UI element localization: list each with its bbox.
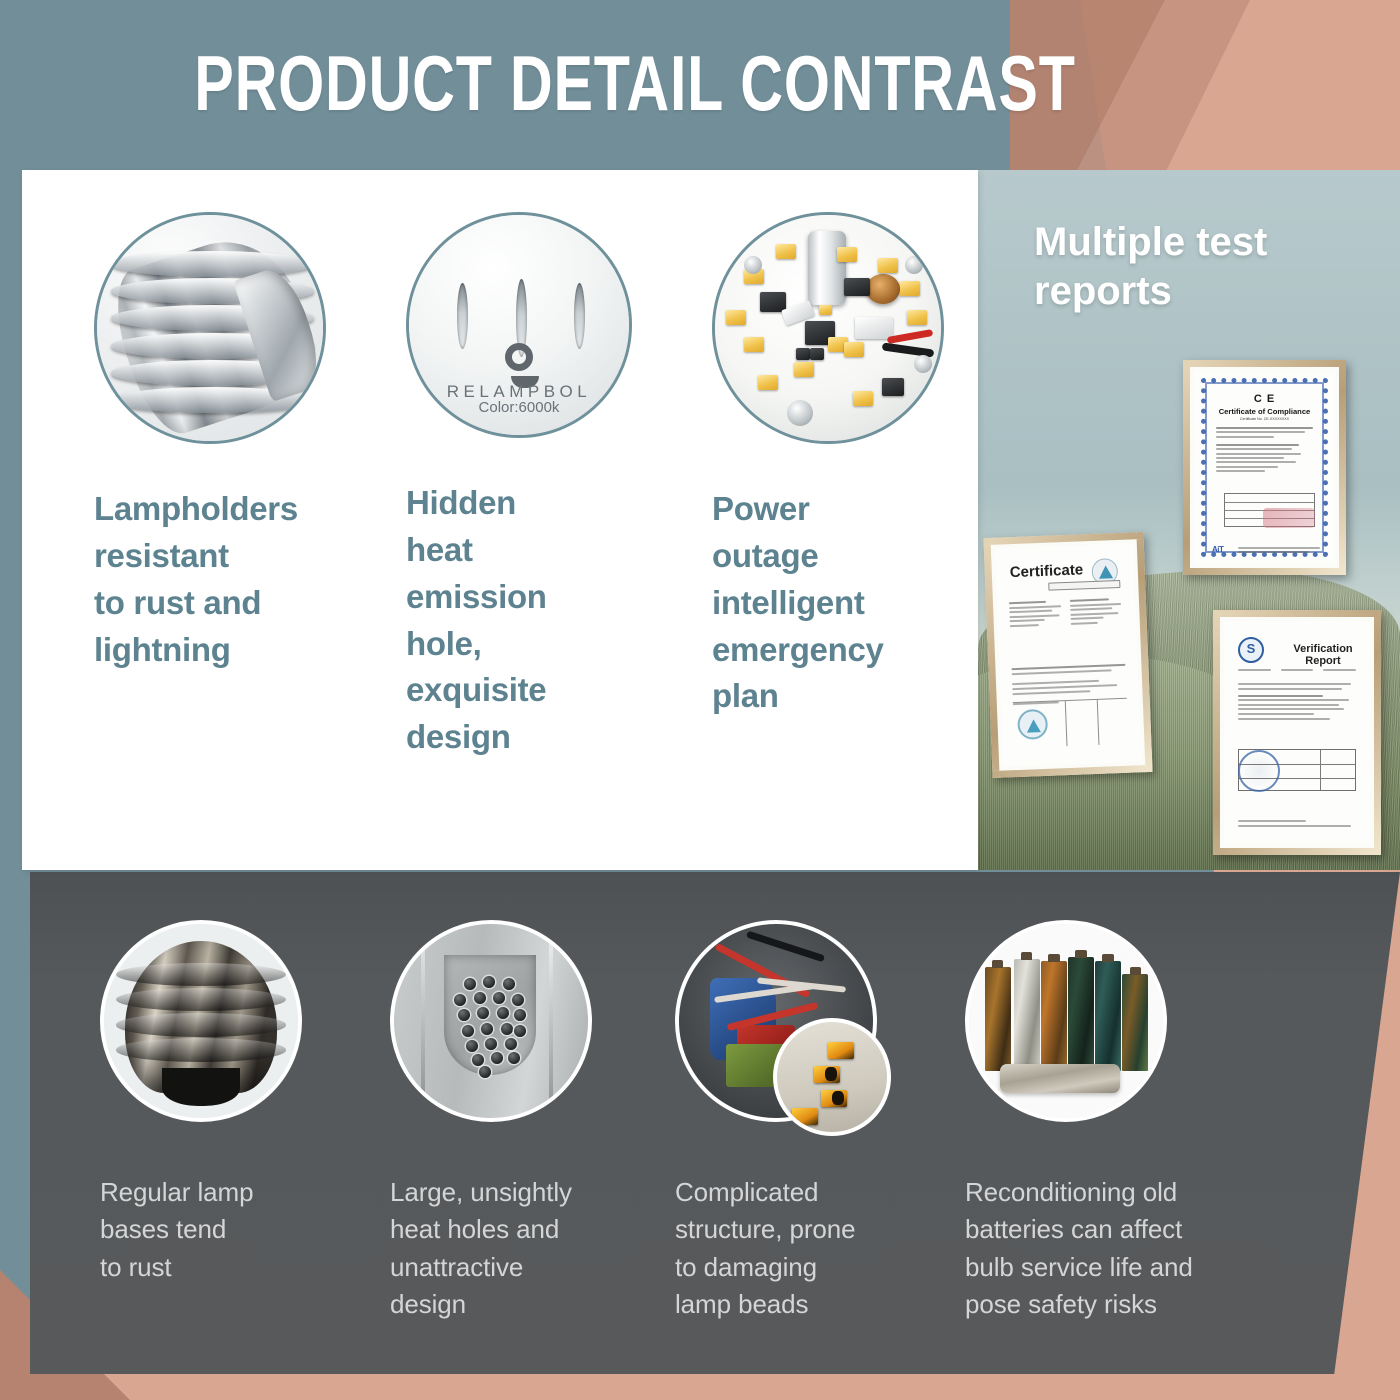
corroded-old-batteries-image bbox=[965, 920, 1167, 1122]
certificate-title: Certificate bbox=[1009, 561, 1083, 581]
certificate-of-compliance: C E Certificate of Compliance Certificat… bbox=[1183, 360, 1346, 575]
drawback-label: Reconditioning old batteries can affect … bbox=[965, 1174, 1235, 1324]
advantage-label: Lampholders resistant to rust and lightn… bbox=[94, 486, 364, 673]
drawback-label: Regular lamp bases tend to rust bbox=[100, 1174, 370, 1286]
bulb-top-heat-vents-image: RELAMPBOL Color:6000k bbox=[406, 212, 632, 438]
drawback-label: Complicated structure, prone to damaging… bbox=[675, 1174, 945, 1324]
page-title: PRODUCT DETAIL CONTRAST bbox=[152, 28, 1117, 138]
rusted-lamp-base-image bbox=[100, 920, 302, 1122]
product-advantages-panel: Lampholders resistant to rust and lightn… bbox=[22, 170, 978, 870]
advantage-label: Hidden heat emission hole, exquisite des… bbox=[406, 480, 676, 761]
test-reports-photo: C E Certificate of Compliance Certificat… bbox=[978, 170, 1400, 870]
led-driver-pcb-image bbox=[712, 212, 944, 444]
verification-report: Verification Report bbox=[1213, 610, 1381, 855]
quality-certificate: Certificate bbox=[983, 532, 1152, 778]
verification-seal-icon bbox=[1238, 637, 1264, 663]
certificate-title: Certificate of Compliance bbox=[1194, 407, 1335, 416]
signature bbox=[1263, 508, 1315, 528]
ce-mark: C E bbox=[1194, 393, 1335, 405]
chrome-lamp-holder-image bbox=[94, 212, 326, 444]
certificate-title: Verification Report bbox=[1276, 643, 1370, 667]
product-drawbacks-panel: Regular lamp bases tend to rust bbox=[30, 872, 1400, 1374]
relampbol-logo-icon bbox=[505, 343, 533, 371]
brand-color-spec: Color:6000k bbox=[409, 399, 629, 416]
drawback-card-heat-holes: Large, unsightly heat holes and unattrac… bbox=[390, 920, 660, 1324]
advantage-label: Power outage intelligent emergency plan bbox=[712, 486, 962, 720]
advantage-card-emergency-plan: Power outage intelligent emergency plan bbox=[712, 212, 962, 720]
drawback-label: Large, unsightly heat holes and unattrac… bbox=[390, 1174, 660, 1324]
large-heat-hole-grille-image bbox=[390, 920, 592, 1122]
ait-logo: AiT bbox=[1212, 545, 1223, 554]
advantage-card-lampholder: Lampholders resistant to rust and lightn… bbox=[94, 212, 364, 673]
drawback-card-old-batteries: Reconditioning old batteries can affect … bbox=[965, 920, 1235, 1324]
reports-title: Multiple test reports bbox=[1034, 218, 1267, 316]
certificate-number: Certificate No. CE-XXXXXXXX bbox=[1194, 417, 1335, 421]
burnt-lamp-beads-inset-image bbox=[773, 1018, 891, 1136]
advantage-card-heat-vents: RELAMPBOL Color:6000k Hidden heat emissi… bbox=[406, 212, 676, 761]
official-stamp bbox=[1238, 750, 1280, 792]
drawback-card-rust: Regular lamp bases tend to rust bbox=[100, 920, 370, 1286]
drawback-card-complicated-structure: Complicated structure, prone to damaging… bbox=[675, 920, 945, 1324]
